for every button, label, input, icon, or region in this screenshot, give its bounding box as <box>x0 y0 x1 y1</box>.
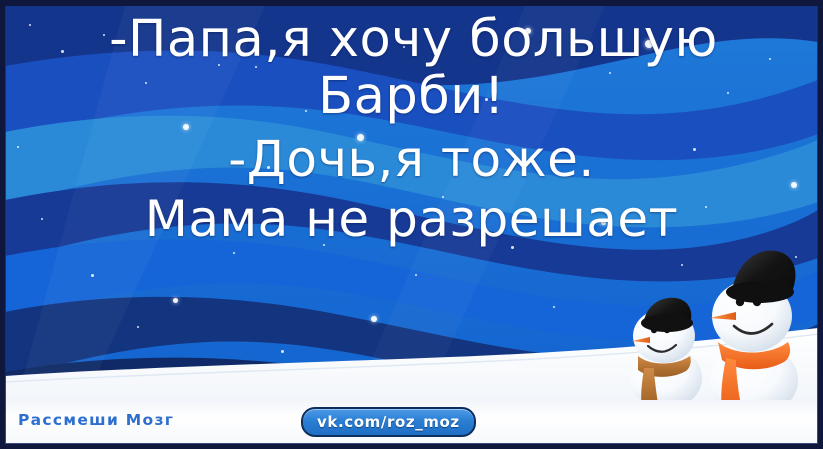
brand-label: Рассмеши Мозг <box>18 411 174 429</box>
meme-card: -Папа,я хочу большую Барби! -Дочь,я тоже… <box>0 0 823 449</box>
sky-background: -Папа,я хочу большую Барби! -Дочь,я тоже… <box>5 6 818 444</box>
footer-bar: Рассмеши Мозг vk.com/roz_moz <box>5 400 818 444</box>
wave-pattern <box>5 6 818 444</box>
vk-link-label: vk.com/roz_moz <box>317 413 460 431</box>
vk-link-badge[interactable]: vk.com/roz_moz <box>301 407 476 437</box>
